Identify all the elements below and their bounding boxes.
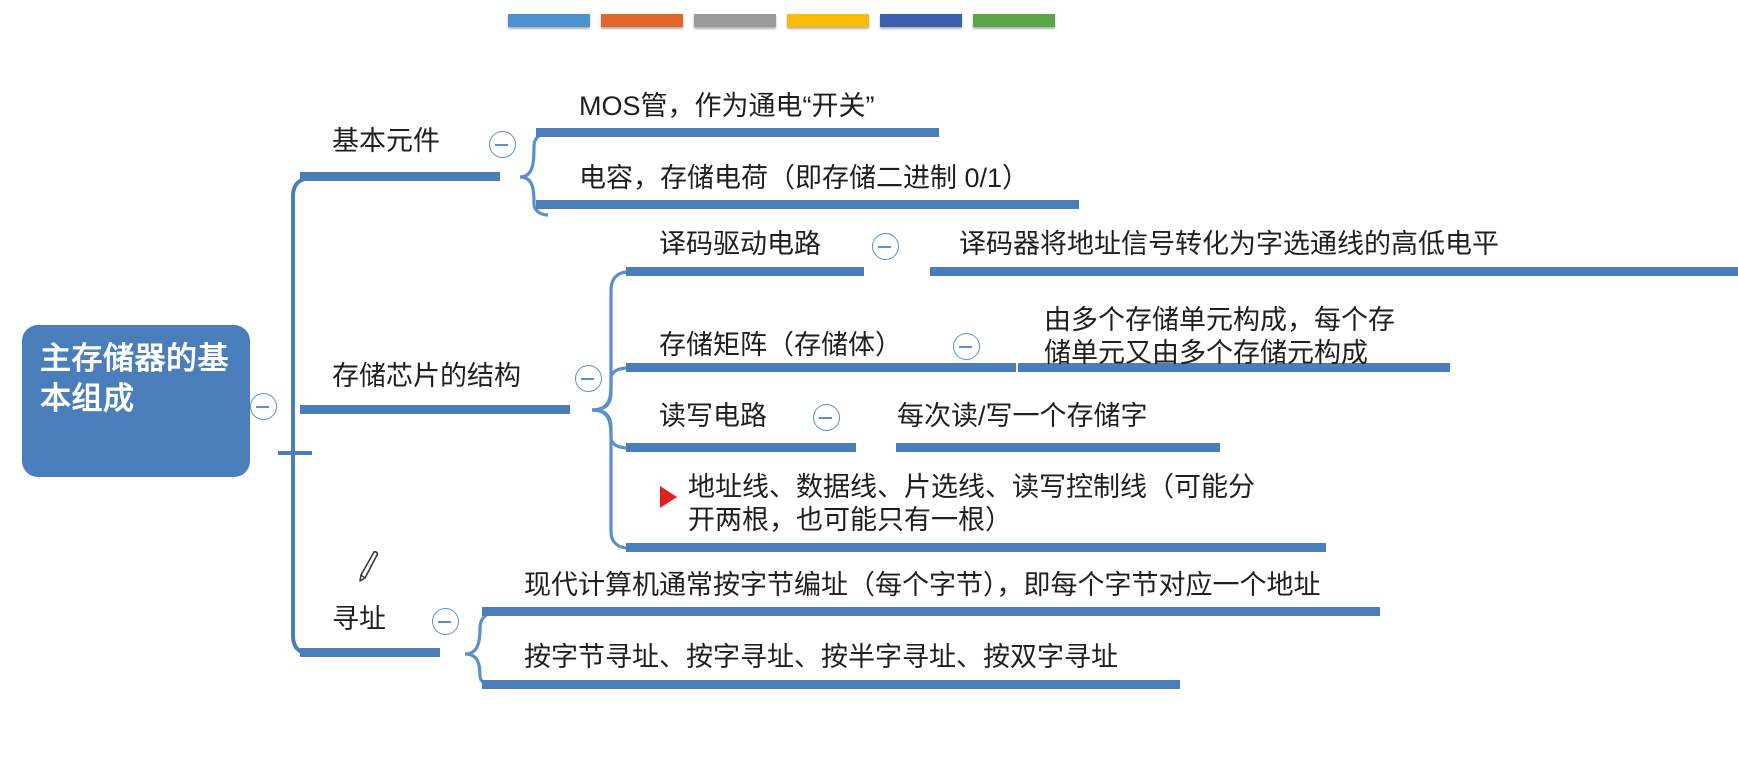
node-label-decoder-drive-circuit[interactable]: 译码驱动电路 <box>659 228 821 261</box>
node-label-readwrite-description[interactable]: 每次读/写一个存储字 <box>897 400 1148 433</box>
node-label-bus-lines[interactable]: 地址线、数据线、片选线、读写控制线（可能分 开两根，也可能只有一根） <box>688 471 1255 537</box>
branch-toggle-chip-structure[interactable] <box>575 365 602 392</box>
swatch-green[interactable] <box>973 14 1055 27</box>
swatch-yellow[interactable] <box>787 14 869 27</box>
node-label-readwrite-circuit[interactable]: 读写电路 <box>659 400 767 433</box>
branch-label-addressing[interactable]: 寻址 <box>332 603 386 636</box>
branch-toggle-basic-components[interactable] <box>489 131 516 158</box>
swatch-blue[interactable] <box>508 14 590 27</box>
node-toggle-storage-matrix[interactable] <box>953 333 980 360</box>
color-palette[interactable] <box>508 14 1055 27</box>
node-label-byte-addressing[interactable]: 现代计算机通常按字节编址（每个字节），即每个字节对应一个地址 <box>524 569 1321 602</box>
pencil-icon[interactable] <box>355 550 385 584</box>
branch-toggle-addressing[interactable] <box>432 608 459 635</box>
swatch-indigo[interactable] <box>880 14 962 27</box>
node-label-storage-matrix[interactable]: 存储矩阵（存储体） <box>659 329 902 362</box>
node-toggle-decoder-drive-circuit[interactable] <box>872 233 899 260</box>
swatch-gray[interactable] <box>694 14 776 27</box>
node-label-storage-matrix-description[interactable]: 由多个存储单元构成，每个存 储单元又由多个存储元构成 <box>1044 304 1395 370</box>
branch-label-basic-components[interactable]: 基本元件 <box>332 125 440 158</box>
red-flag-icon <box>660 486 677 508</box>
swatch-orange[interactable] <box>601 14 683 27</box>
node-label-mos-transistor[interactable]: MOS管，作为通电“开关” <box>579 90 874 123</box>
node-label-capacitor[interactable]: 电容，存储电荷（即存储二进制 0/1） <box>579 162 1029 195</box>
node-label-decoder-description[interactable]: 译码器将地址信号转化为字选通线的高低电平 <box>959 228 1499 261</box>
node-label-addressing-modes[interactable]: 按字节寻址、按字寻址、按半字寻址、按双字寻址 <box>524 641 1118 674</box>
mindmap-canvas: 主存储器的基本组成 基本元件 MOS管，作为通电“开关” 电容，存储电荷（即存储… <box>0 0 1738 780</box>
root-collapse-toggle[interactable] <box>250 393 277 420</box>
branch-label-chip-structure[interactable]: 存储芯片的结构 <box>332 360 521 393</box>
root-node[interactable]: 主存储器的基本组成 <box>22 325 250 477</box>
node-toggle-readwrite-circuit[interactable] <box>813 404 840 431</box>
